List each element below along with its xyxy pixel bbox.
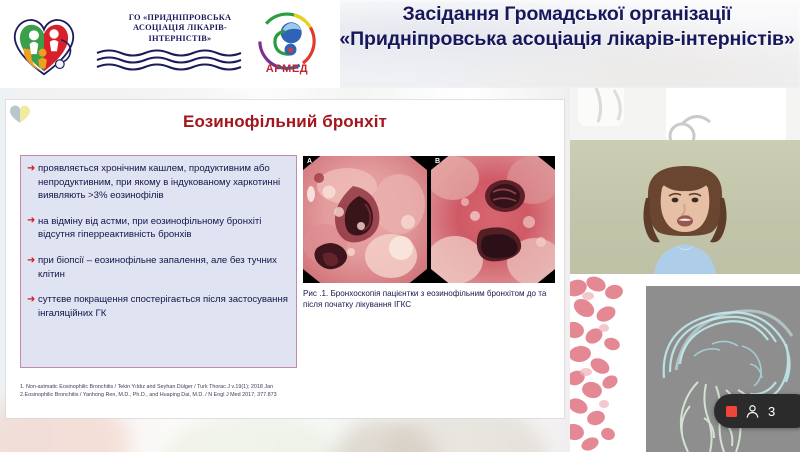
speaker-upper-background (570, 88, 800, 140)
bullet-item: ➜ суттєве покращення спостерігається піс… (27, 293, 289, 320)
bronchoscopy-figure: A (303, 156, 555, 283)
association-heart-logo-icon (8, 8, 80, 80)
bullet-text: на відміну від астми, при еозинофільному… (38, 216, 261, 241)
reference-item: 1. Non-astmatic Eosinophilic Bronchitis … (20, 383, 540, 391)
presentation-slide: Еозинофільний бронхіт ➜ проявляється хро… (6, 100, 564, 418)
background-equipment-icon (570, 88, 800, 140)
bronchoscopy-image-b (431, 156, 555, 283)
panel-label-a: A (307, 158, 312, 165)
bronchoscopy-image-a (303, 156, 427, 283)
meeting-controls-pill[interactable]: 3 (714, 394, 800, 428)
wave-divider-icon (95, 48, 255, 74)
arrow-bullet-icon: ➜ (27, 256, 36, 265)
bronchoscopy-panel-b: B (431, 156, 555, 283)
bullet-text: суттєве покращення спостерігається після… (38, 294, 288, 319)
arrow-bullet-icon: ➜ (27, 295, 36, 304)
slide-bullet-box: ➜ проявляється хронічним кашлем, продукт… (20, 155, 297, 368)
event-header-banner: ГО «ПРИДНІПРОВСЬКА АСОЦІАЦІЯ ЛІКАРІВ-ІНТ… (0, 0, 800, 88)
slide-references: 1. Non-astmatic Eosinophilic Bronchitis … (20, 383, 540, 400)
participant-video-rail: 3 (570, 88, 800, 452)
speaker-video-tile[interactable] (570, 88, 800, 274)
bullet-item: ➜ на відміну від астми, при еозинофільно… (27, 215, 289, 242)
red-blood-cells-icon (570, 274, 642, 452)
event-title: Засідання Громадської організації «Придн… (336, 2, 798, 53)
armed-label: АРМЕД (252, 63, 322, 75)
arrow-bullet-icon: ➜ (27, 164, 36, 173)
arrow-bullet-icon: ➜ (27, 216, 36, 225)
figure-caption: Рис .1. Бронхоскопія пацієнтки з еозиноф… (303, 288, 553, 310)
screen: ГО «ПРИДНІПРОВСЬКА АСОЦІАЦІЯ ЛІКАРІВ-ІНТ… (0, 0, 800, 452)
bullet-item: ➜ проявляється хронічним кашлем, продукт… (27, 162, 289, 203)
bronchoscopy-panel-a: A (303, 156, 427, 283)
reference-item: 2.Eosinophilic Bronchitis / Yanhong Ren,… (20, 391, 540, 399)
speaker-person-avatar (624, 158, 746, 274)
bullet-item: ➜ при біопсії – еозинофільне запалення, … (27, 254, 289, 281)
participants-count: 3 (768, 405, 775, 418)
secondary-video-tile[interactable]: 3 (570, 274, 800, 452)
association-name-text: ГО «ПРИДНІПРОВСЬКА АСОЦІАЦІЯ ЛІКАРІВ-ІНТ… (110, 13, 250, 44)
shared-screen-region[interactable]: Еозинофільний бронхіт ➜ проявляється хро… (0, 88, 570, 452)
panel-label-b: B (435, 158, 440, 165)
bullet-text: проявляється хронічним кашлем, продуктив… (38, 163, 280, 201)
recording-indicator-icon[interactable] (726, 406, 737, 417)
slide-title: Еозинофільний бронхіт (6, 112, 564, 132)
bullet-text: при біопсії – еозинофільне запалення, ал… (38, 255, 277, 280)
blood-cells-illustration (570, 274, 642, 452)
person-icon[interactable] (745, 404, 760, 419)
